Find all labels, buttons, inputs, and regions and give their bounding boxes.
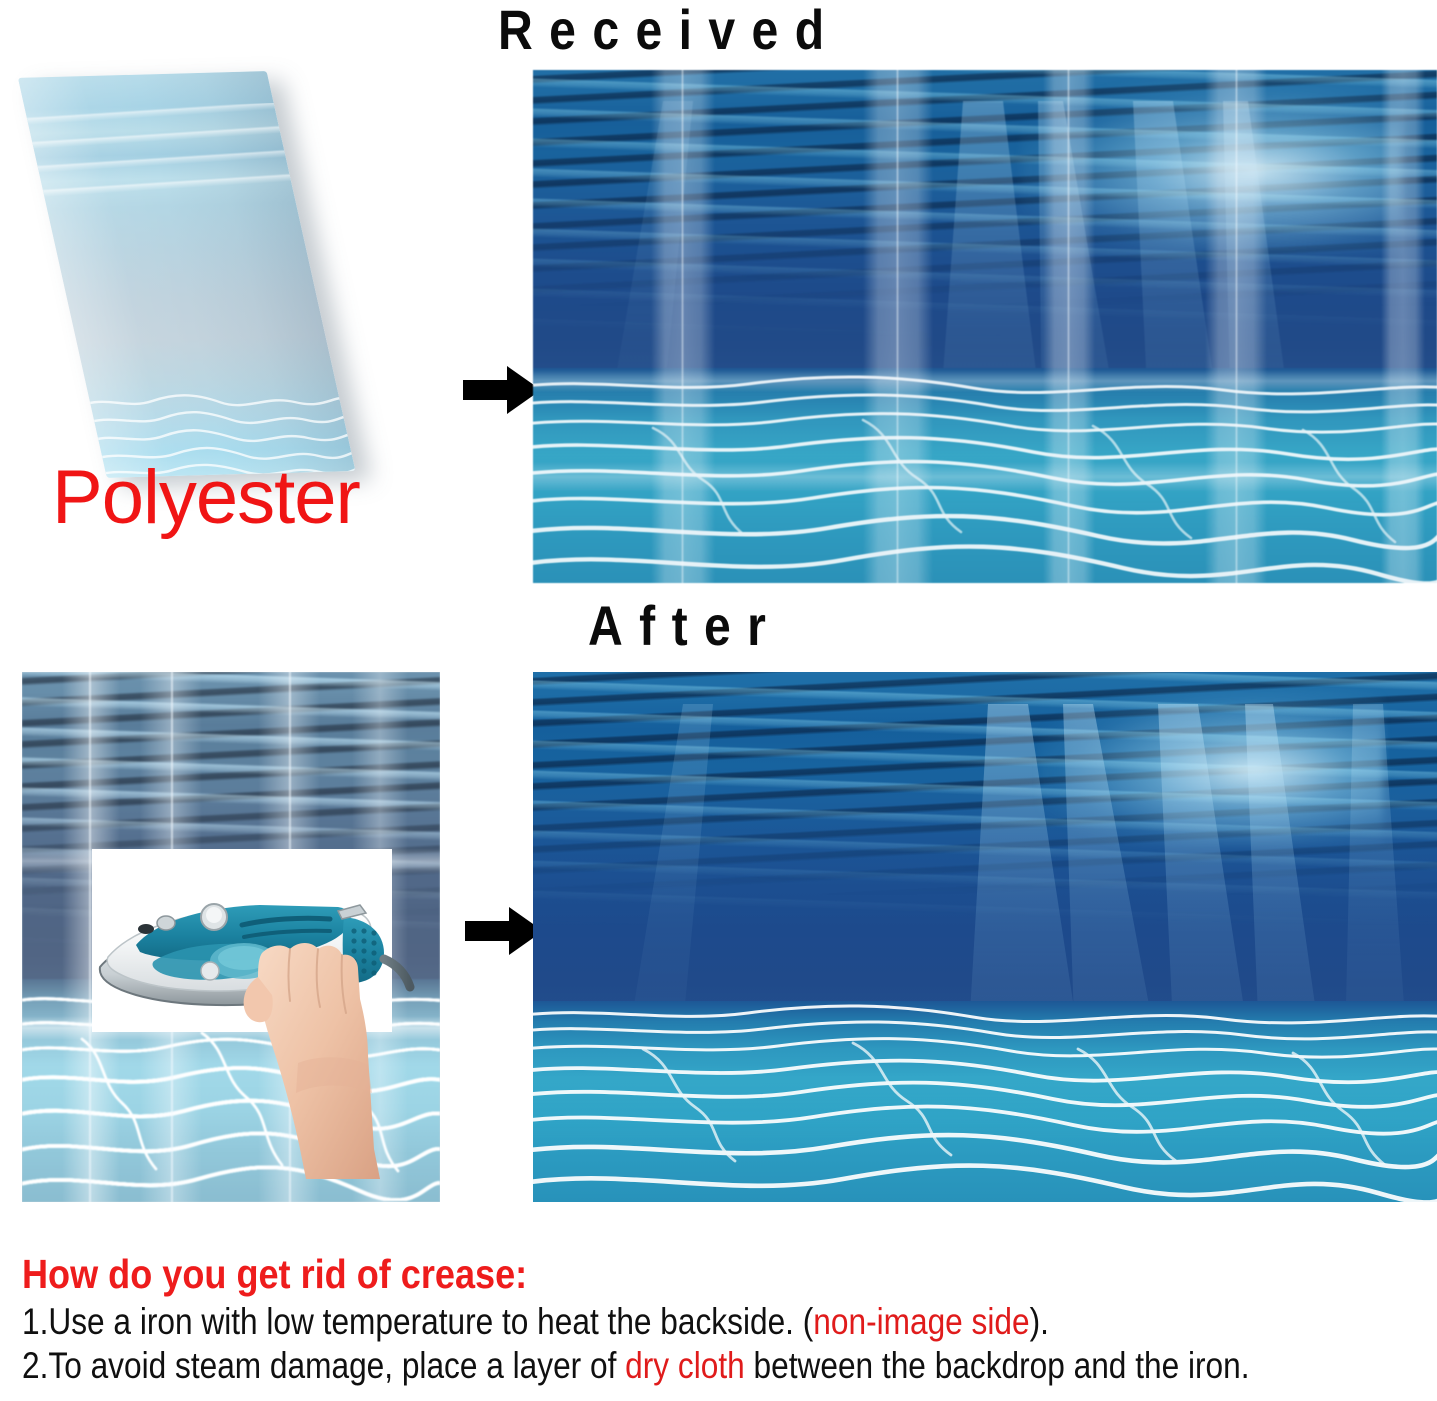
instruction-line-2: 2.To avoid steam damage, place a layer o… [22, 1344, 1219, 1387]
instruction-2-highlight: dry cloth [625, 1345, 745, 1386]
polyester-label: Polyester [52, 460, 360, 536]
iron-demo-card [92, 849, 392, 1032]
after-heading: After [588, 598, 782, 654]
received-backdrop-photo [533, 70, 1437, 583]
underwater-scene-after [533, 672, 1437, 1202]
fabric-wave-print [25, 103, 293, 198]
after-backdrop-photo [533, 672, 1437, 1202]
underwater-scene-received [533, 70, 1437, 583]
instruction-1-post: ). [1030, 1301, 1049, 1342]
instruction-line-1: 1.Use a iron with low temperature to hea… [22, 1300, 1219, 1343]
seabed-caustics [533, 368, 1437, 583]
crease-instructions-heading: How do you get rid of crease: [22, 1252, 1254, 1296]
polyester-fabric-swatch [18, 71, 355, 478]
infographic-canvas: Received Polyester [0, 0, 1437, 1401]
instruction-2-post: between the backdrop and the iron. [745, 1345, 1250, 1386]
instruction-2-pre: 2.To avoid steam damage, place a layer o… [22, 1345, 625, 1386]
instructions-block: How do you get rid of crease: 1.Use a ir… [22, 1252, 1422, 1387]
instruction-1-highlight: non-image side [813, 1301, 1029, 1342]
seabed-caustics [533, 1001, 1437, 1202]
received-heading: Received [498, 2, 840, 58]
instruction-1-pre: 1.Use a iron with low temperature to hea… [22, 1301, 813, 1342]
arrow-right-icon-after [465, 905, 543, 957]
arrow-right-icon-received [463, 364, 541, 416]
